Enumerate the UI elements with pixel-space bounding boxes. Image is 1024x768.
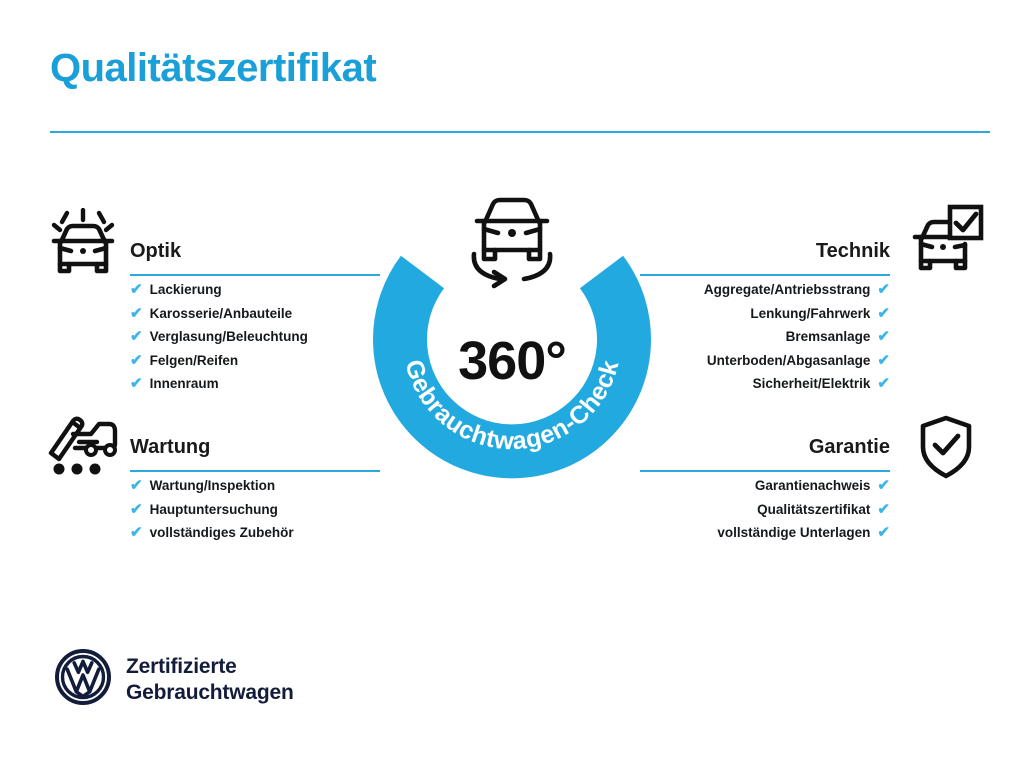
- certificate-page: Qualitätszertifikat: [0, 0, 1024, 768]
- section-header-optik: Optik: [130, 238, 380, 278]
- list-item-label: Verglasung/Beleuchtung: [150, 329, 308, 344]
- car-front-checkbox-icon: [908, 204, 984, 281]
- check-icon: ✔: [877, 353, 890, 368]
- checklist-garantie: Garantienachweis✔Qualitätszertifikat✔vol…: [640, 474, 890, 545]
- check-icon: ✔: [130, 282, 143, 297]
- list-item: Qualitätszertifikat✔: [640, 498, 890, 522]
- list-item: Bremsanlage✔: [640, 325, 890, 349]
- section-technik: TechnikAggregate/Antriebsstrang✔Lenkung/…: [640, 238, 890, 396]
- list-item-label: Felgen/Reifen: [150, 353, 239, 368]
- list-item: Sicherheit/Elektrik✔: [640, 372, 890, 396]
- list-item: ✔Felgen/Reifen: [130, 349, 380, 373]
- check-icon: ✔: [877, 376, 890, 391]
- list-item-label: Sicherheit/Elektrik: [753, 376, 871, 391]
- shield-check-icon: [918, 414, 974, 485]
- list-item-label: Lackierung: [150, 282, 222, 297]
- list-item-label: Lenkung/Fahrwerk: [750, 306, 870, 321]
- 360-check-badge: Gebrauchtwagen-Check: [368, 196, 656, 484]
- check-icon: ✔: [130, 478, 143, 493]
- section-title-technik: Technik: [640, 238, 890, 264]
- list-item: ✔Karosserie/Anbauteile: [130, 302, 380, 326]
- check-icon: ✔: [130, 525, 143, 540]
- list-item: vollständige Unterlagen✔: [640, 521, 890, 545]
- list-item-label: Aggregate/Antriebsstrang: [704, 282, 871, 297]
- list-item: ✔Wartung/Inspektion: [130, 474, 380, 498]
- section-optik: Optik✔Lackierung✔Karosserie/Anbauteile✔V…: [130, 238, 380, 396]
- footer-brand: Zertifizierte Gebrauchtwagen: [54, 648, 294, 711]
- volkswagen-logo-icon: [54, 648, 112, 711]
- checklist-technik: Aggregate/Antriebsstrang✔Lenkung/Fahrwer…: [640, 278, 890, 396]
- section-divider-technik: [640, 274, 890, 276]
- list-item-label: vollständiges Zubehör: [150, 525, 294, 540]
- footer-brand-line2: Gebrauchtwagen: [126, 680, 294, 706]
- section-header-technik: Technik: [640, 238, 890, 278]
- section-wartung: Wartung✔Wartung/Inspektion✔Hauptuntersuc…: [130, 434, 380, 545]
- check-icon: ✔: [130, 329, 143, 344]
- list-item-label: Karosserie/Anbauteile: [150, 306, 293, 321]
- list-item: ✔Lackierung: [130, 278, 380, 302]
- section-title-garantie: Garantie: [640, 434, 890, 460]
- list-item-label: Innenraum: [150, 376, 219, 391]
- section-divider-wartung: [130, 470, 380, 472]
- list-item: ✔vollständiges Zubehör: [130, 521, 380, 545]
- list-item-label: Hauptuntersuchung: [150, 502, 278, 517]
- check-icon: ✔: [130, 306, 143, 321]
- check-icon: ✔: [130, 376, 143, 391]
- list-item: Aggregate/Antriebsstrang✔: [640, 278, 890, 302]
- list-item-label: Wartung/Inspektion: [150, 478, 276, 493]
- section-header-garantie: Garantie: [640, 434, 890, 474]
- title-divider: [50, 131, 990, 133]
- section-divider-optik: [130, 274, 380, 276]
- check-icon: ✔: [877, 306, 890, 321]
- checklist-optik: ✔Lackierung✔Karosserie/Anbauteile✔Vergla…: [130, 278, 380, 396]
- section-title-optik: Optik: [130, 238, 380, 264]
- checklist-wartung: ✔Wartung/Inspektion✔Hauptuntersuchung✔vo…: [130, 474, 380, 545]
- footer-brand-text: Zertifizierte Gebrauchtwagen: [126, 654, 294, 706]
- check-icon: ✔: [877, 329, 890, 344]
- list-item: ✔Hauptuntersuchung: [130, 498, 380, 522]
- page-title: Qualitätszertifikat: [50, 46, 376, 90]
- car-front-rotation-icon: [458, 190, 566, 294]
- list-item-label: Unterboden/Abgasanlage: [707, 353, 871, 368]
- check-icon: ✔: [877, 478, 890, 493]
- badge-center-value: 360°: [368, 334, 656, 388]
- list-item: ✔Verglasung/Beleuchtung: [130, 325, 380, 349]
- list-item: Garantienachweis✔: [640, 474, 890, 498]
- wrench-car-service-icon: [45, 412, 121, 481]
- list-item-label: Garantienachweis: [755, 478, 871, 493]
- car-front-shine-icon: [45, 208, 121, 283]
- check-icon: ✔: [877, 282, 890, 297]
- list-item: Unterboden/Abgasanlage✔: [640, 349, 890, 373]
- check-icon: ✔: [877, 502, 890, 517]
- list-item-label: Bremsanlage: [786, 329, 871, 344]
- check-icon: ✔: [130, 353, 143, 368]
- section-title-wartung: Wartung: [130, 434, 380, 460]
- section-divider-garantie: [640, 470, 890, 472]
- check-icon: ✔: [877, 525, 890, 540]
- section-header-wartung: Wartung: [130, 434, 380, 474]
- check-icon: ✔: [130, 502, 143, 517]
- list-item: Lenkung/Fahrwerk✔: [640, 302, 890, 326]
- list-item: ✔Innenraum: [130, 372, 380, 396]
- footer-brand-line1: Zertifizierte: [126, 654, 294, 680]
- list-item-label: vollständige Unterlagen: [717, 525, 870, 540]
- section-garantie: GarantieGarantienachweis✔Qualitätszertif…: [640, 434, 890, 545]
- list-item-label: Qualitätszertifikat: [757, 502, 870, 517]
